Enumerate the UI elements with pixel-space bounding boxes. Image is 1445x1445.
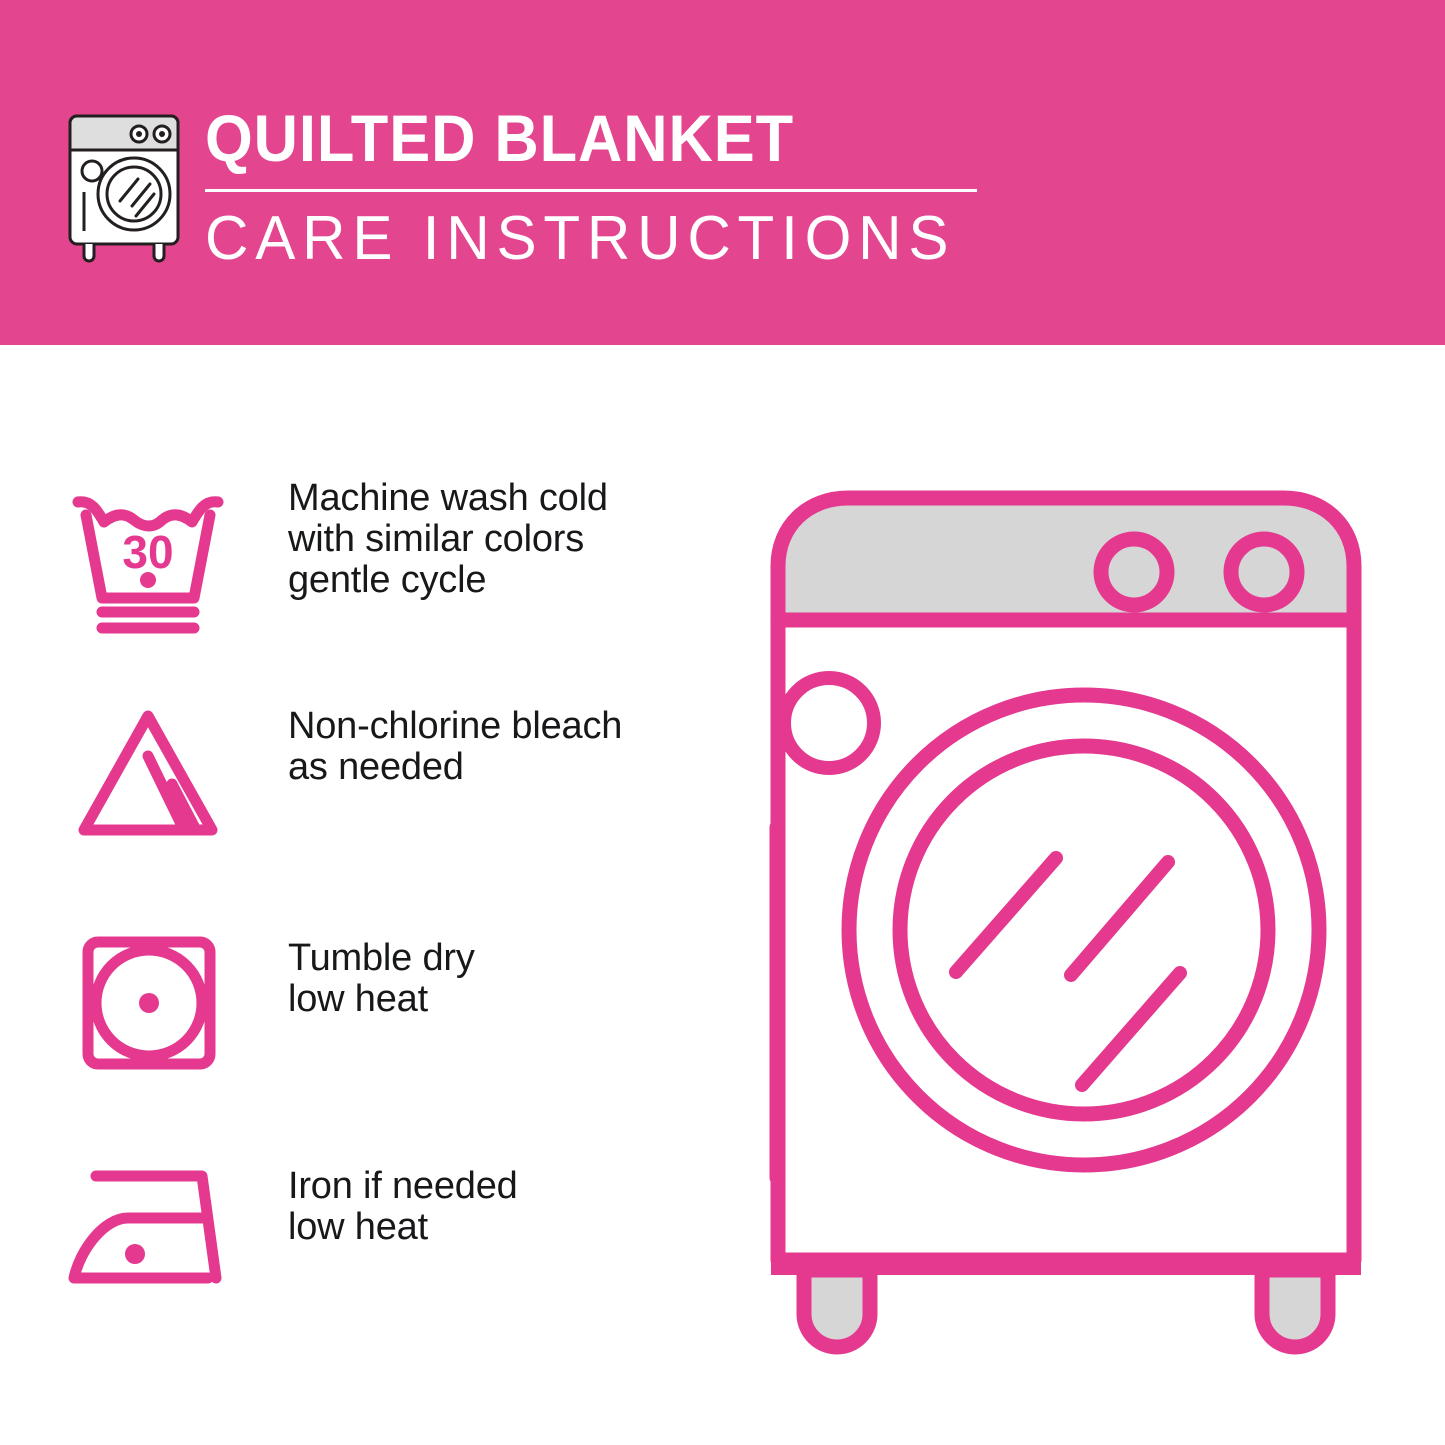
list-item: Non-chlorine bleach as needed	[0, 698, 700, 898]
page-title: QUILTED BLANKET	[205, 100, 940, 176]
header-text-block: QUILTED BLANKET CARE INSTRUCTIONS	[205, 100, 995, 275]
label-line: low heat	[288, 1207, 688, 1248]
list-item: Tumble dry low heat	[0, 930, 700, 1130]
detergent-port[interactable]	[784, 678, 874, 768]
header-banner: QUILTED BLANKET CARE INSTRUCTIONS	[0, 0, 1445, 345]
tumble-dry-low-icon	[62, 930, 232, 1100]
label-line: as needed	[288, 747, 688, 788]
list-item-label: Non-chlorine bleach as needed	[288, 706, 688, 788]
leg-right	[1262, 1270, 1328, 1347]
label-line: gentle cycle	[288, 560, 688, 601]
page-subtitle: CARE INSTRUCTIONS	[205, 203, 971, 275]
label-line: Tumble dry	[288, 938, 688, 979]
label-line: Non-chlorine bleach	[288, 706, 688, 747]
iron-low-heat-icon	[62, 1158, 232, 1328]
non-chlorine-bleach-triangle-icon	[62, 698, 232, 868]
wash-tub-30-gentle-icon: 30	[62, 470, 232, 640]
door-inner-ring	[900, 746, 1268, 1114]
dial-right[interactable]	[1231, 539, 1297, 605]
list-item-label: Tumble dry low heat	[288, 938, 688, 1020]
title-divider	[205, 189, 977, 192]
list-item-label: Machine wash cold with similar colors ge…	[288, 478, 688, 601]
list-item-label: Iron if needed low heat	[288, 1166, 688, 1248]
label-line: with similar colors	[288, 519, 688, 560]
washing-machine-icon	[58, 98, 190, 263]
wash-temperature-label: 30	[122, 526, 173, 578]
leg-left	[804, 1270, 870, 1347]
list-item: Iron if needed low heat	[0, 1158, 700, 1358]
front-load-washing-machine-illustration	[716, 470, 1416, 1370]
dial-left[interactable]	[1101, 539, 1167, 605]
list-item: 30 Machine wash cold with similar colors…	[0, 470, 700, 670]
label-line: Iron if needed	[288, 1166, 688, 1207]
label-line: Machine wash cold	[288, 478, 688, 519]
label-line: low heat	[288, 979, 688, 1020]
